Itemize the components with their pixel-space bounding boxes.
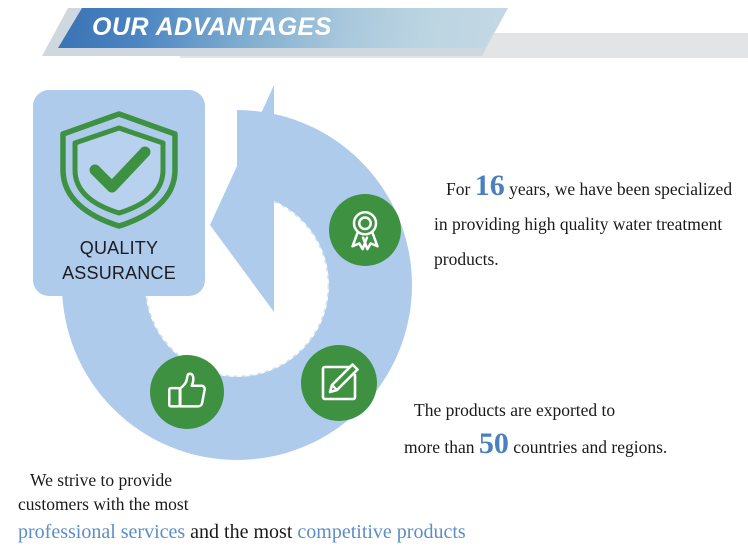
strive-line1: We strive to provide [18,468,488,492]
quality-assurance-card[interactable]: QUALITY ASSURANCE [33,90,205,296]
export-text-block: The products are exported to more than 5… [404,392,748,466]
years-after-line1: years, we have been specialized [509,179,732,199]
quality-assurance-label: QUALITY ASSURANCE [62,236,176,286]
qa-label-line2: ASSURANCE [62,263,176,283]
years-number: 16 [475,169,505,202]
strive-highlight-competitive: competitive products [297,521,465,543]
export-before: more than [404,437,474,457]
export-line1: The products are exported to [404,392,748,429]
strive-line2: customers with the most [18,494,189,514]
edit-badge[interactable] [301,345,377,421]
years-text-block: For 16 years, we have been specialized i… [434,172,744,277]
qa-label-line1: QUALITY [80,238,158,258]
award-badge[interactable] [329,194,401,266]
edit-pencil-icon [315,359,363,407]
years-line3: products. [434,249,499,269]
strive-middle: and the most [185,521,297,543]
years-line2: in providing high quality water treatmen… [434,214,722,234]
thumbs-up-icon [164,369,210,415]
header-banner: OUR ADVANTAGES [0,0,748,72]
shield-check-icon [51,106,187,232]
strive-text-block: We strive to provide customers with the … [18,468,488,547]
years-before: For [446,179,470,199]
export-number: 50 [479,427,509,460]
award-ribbon-icon [342,207,388,253]
strive-highlight-professional: professional services [18,521,185,543]
page-title: OUR ADVANTAGES [92,13,332,42]
export-after: countries and regions. [513,437,667,457]
thumbs-up-badge[interactable] [150,355,224,429]
